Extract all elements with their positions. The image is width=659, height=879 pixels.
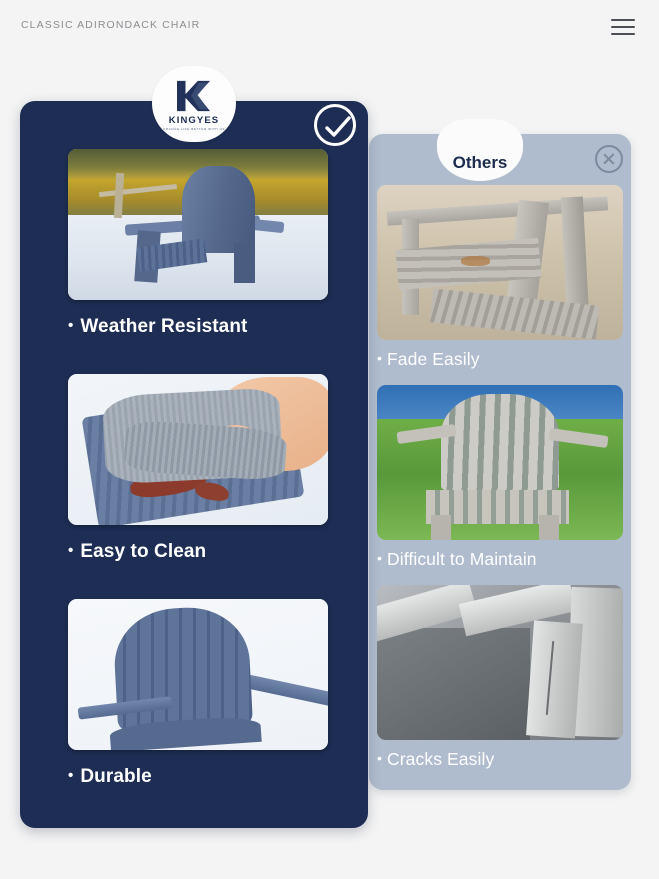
feature-photo-wiping-spill	[68, 374, 328, 525]
others-label-0: •Fade Easily	[377, 349, 623, 370]
others-label-2: •Cracks Easily	[377, 749, 623, 770]
feature-label-text-2: Durable	[80, 766, 151, 787]
bullet-icon: •	[68, 542, 73, 559]
page-header: CLASSIC ADIRONDACK CHAIR	[0, 0, 659, 52]
bullet-icon: •	[377, 550, 382, 566]
feature-label-text-0: Weather Resistant	[80, 316, 247, 337]
hamburger-menu-icon[interactable]	[611, 19, 635, 35]
others-item-2: •Cracks Easily	[377, 585, 623, 770]
others-photo-faded-chair-on-sand	[377, 185, 623, 340]
feature-photo-chair-fan-back	[68, 599, 328, 750]
brand-tagline: CHANGE LIFE BETTER WITH US	[163, 127, 225, 131]
brand-logo-badge: KINGYES CHANGE LIFE BETTER WITH US	[152, 66, 236, 142]
kingyes-comparison-panel: •Weather Resistant •Easy to Clean	[20, 101, 368, 828]
close-circle-icon[interactable]	[595, 145, 623, 173]
feature-label-text-1: Easy to Clean	[80, 541, 206, 562]
feature-label-0: •Weather Resistant	[68, 316, 328, 338]
brand-name: KINGYES	[169, 115, 219, 126]
others-label-text-2: Cracks Easily	[387, 749, 494, 769]
others-label-text-0: Fade Easily	[387, 349, 480, 369]
feature-label-2: •Durable	[68, 766, 328, 788]
bullet-icon: •	[377, 750, 382, 766]
others-label-text-1: Difficult to Maintain	[387, 549, 537, 569]
feature-photo-chair-in-snow	[68, 149, 328, 300]
feature-item-0: •Weather Resistant	[68, 149, 328, 338]
k-monogram-icon	[172, 79, 216, 113]
feature-item-1: •Easy to Clean	[68, 374, 328, 563]
check-mark-icon	[324, 115, 352, 141]
bullet-icon: •	[377, 350, 382, 366]
others-photo-cracked-wood-closeup	[377, 585, 623, 740]
others-item-0: •Fade Easily	[377, 185, 623, 370]
others-label-1: •Difficult to Maintain	[377, 549, 623, 570]
feature-label-1: •Easy to Clean	[68, 541, 328, 563]
product-comparison-page: CLASSIC ADIRONDACK CHAIR •Fade Easily	[0, 0, 659, 879]
bullet-icon: •	[68, 317, 73, 334]
others-item-1: •Difficult to Maintain	[377, 385, 623, 570]
others-photo-weathered-chair-on-grass	[377, 385, 623, 540]
check-circle-icon	[314, 104, 356, 146]
page-title: CLASSIC ADIRONDACK CHAIR	[21, 19, 200, 31]
others-comparison-panel: •Fade Easily •Difficult to Maintain	[369, 134, 631, 790]
bullet-icon: •	[68, 767, 73, 784]
others-badge-label: Others	[453, 153, 508, 173]
feature-item-2: •Durable	[68, 599, 328, 788]
